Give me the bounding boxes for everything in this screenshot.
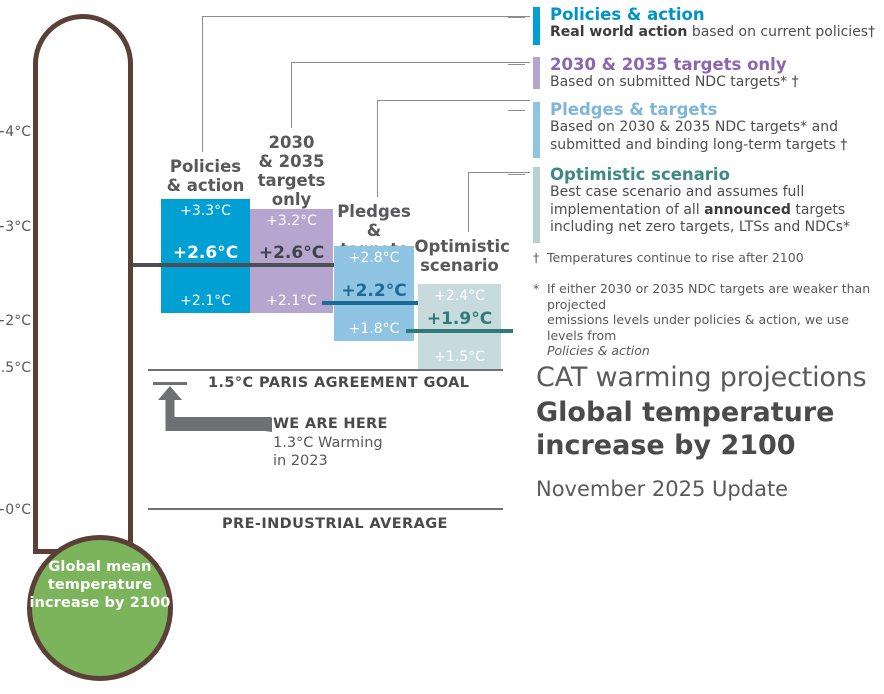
footnote-1: *If either 2030 or 2035 NDC targets are … xyxy=(533,281,884,359)
legend-desc-3: Best case scenario and assumes fullimple… xyxy=(550,184,850,237)
range-low-targets: +2.1°C xyxy=(250,293,333,309)
legend-dash-0 xyxy=(508,17,525,18)
connector-horizontal-1 xyxy=(291,62,530,63)
thermometer-tick xyxy=(42,145,64,148)
connector-vertical-0 xyxy=(202,16,203,152)
thermometer-band-0 xyxy=(38,19,128,133)
range-high-targets: +3.2°C xyxy=(250,213,333,229)
axis-label-4: +4°C xyxy=(0,124,31,140)
connector-vertical-2 xyxy=(377,100,378,197)
legend-body-2: Pledges & targetsBased on 2030 & 2035 ND… xyxy=(550,100,847,154)
thermometer-tick xyxy=(42,98,64,101)
thermometer-tick xyxy=(42,121,64,124)
median-line-targets xyxy=(238,263,345,267)
mercury-gap xyxy=(112,379,119,504)
thermometer-tick xyxy=(42,381,64,384)
axis-label-2: +2°C xyxy=(0,313,31,329)
bulb-label: Global mean temperature increase by 2100 xyxy=(27,558,173,612)
thermometer-tick xyxy=(42,487,64,490)
thermometer-tube xyxy=(38,19,128,549)
chart-title-line2: Global temperature increase by 2100 xyxy=(536,396,834,462)
legend-item-1[interactable]: 2030 & 2035 targets onlyBased on submitt… xyxy=(533,55,799,92)
infographic-root: Global mean temperature increase by 2100… xyxy=(0,0,884,694)
we-are-here-line2: in 2023 xyxy=(273,453,328,469)
legend-body-0: Policies & actionReal world action based… xyxy=(550,5,875,42)
legend-desc-0: Real world action based on current polic… xyxy=(550,24,875,42)
thermometer-tick xyxy=(42,405,64,408)
thermometer-tick xyxy=(42,511,80,514)
legend-title-0: Policies & action xyxy=(550,5,875,24)
thermometer-tick xyxy=(42,287,64,290)
legend-desc-2: Based on 2030 & 2035 NDC targets* andsub… xyxy=(550,119,847,154)
legend-item-0[interactable]: Policies & actionReal world action based… xyxy=(533,5,875,42)
footnote-italic-1: Policies & action xyxy=(547,343,650,358)
range-high-pledges: +2.8°C xyxy=(334,250,414,266)
thermometer-tick xyxy=(42,440,64,443)
footnote-mark-0: † xyxy=(533,250,547,266)
legend-title-3: Optimistic scenario xyxy=(550,165,850,184)
thermometer-tick xyxy=(42,251,64,254)
thermometer-tick xyxy=(42,476,64,479)
thermometer-tick xyxy=(42,216,64,219)
legend-dash-2 xyxy=(508,110,525,111)
column-title-policies: Policies & action xyxy=(161,157,250,195)
thermometer-tick xyxy=(42,263,64,266)
connector-horizontal-0 xyxy=(202,16,530,17)
thermometer-tick xyxy=(42,157,64,160)
legend-swatch-0 xyxy=(533,7,540,45)
median-value-pledges: +2.2°C xyxy=(334,281,414,301)
thermometer-tick xyxy=(42,369,80,372)
thermometer-tick xyxy=(42,334,64,337)
thermometer-tick xyxy=(42,180,80,183)
thermometer-tick xyxy=(42,428,64,431)
thermometer-tick xyxy=(42,192,64,195)
thermometer-tick xyxy=(42,357,64,360)
legend-title-1: 2030 & 2035 targets only xyxy=(550,55,799,74)
we-are-here-subtitle: 1.3°C Warmingin 2023 xyxy=(273,434,383,470)
axis-label-3: +3°C xyxy=(0,219,31,235)
connector-horizontal-2 xyxy=(377,100,530,101)
legend-dash-1 xyxy=(508,64,525,65)
thermometer-tick xyxy=(42,298,64,301)
legend-title-2: Pledges & targets xyxy=(550,100,847,119)
legend-body-3: Optimistic scenarioBest case scenario an… xyxy=(550,165,850,237)
thermometer-tick xyxy=(42,275,80,278)
median-value-targets: +2.6°C xyxy=(250,243,333,263)
thermometer-tick xyxy=(42,168,64,171)
chart-title-line1: CAT warming projections xyxy=(536,362,867,393)
thermometer-tick xyxy=(42,133,80,136)
footnote-text-1: If either 2030 or 2035 NDC targets are w… xyxy=(547,281,884,359)
thermometer-tick xyxy=(42,86,80,89)
chart-subtitle: November 2025 Update xyxy=(536,477,788,501)
range-high-policies: +3.3°C xyxy=(161,203,250,219)
legend-item-2[interactable]: Pledges & targetsBased on 2030 & 2035 ND… xyxy=(533,100,847,154)
footnote-text-0: Temperatures continue to rise after 2100 xyxy=(547,250,804,266)
paris-goal-line xyxy=(148,369,503,371)
connector-vertical-1 xyxy=(291,62,292,128)
thermometer-tick xyxy=(42,239,64,242)
range-low-policies: +2.1°C xyxy=(161,293,250,309)
range-high-optimistic: +2.4°C xyxy=(418,288,501,304)
thermometer-tick xyxy=(42,452,64,455)
thermometer-tick xyxy=(42,346,64,349)
range-low-optimistic: +1.5°C xyxy=(418,349,501,365)
connector-vertical-3 xyxy=(468,172,469,232)
thermometer-tick xyxy=(42,310,64,313)
legend-swatch-1 xyxy=(533,57,540,89)
legend-body-1: 2030 & 2035 targets onlyBased on submitt… xyxy=(550,55,799,92)
legend-swatch-3 xyxy=(533,167,540,243)
median-value-optimistic: +1.9°C xyxy=(418,309,501,329)
column-title-targets: 2030 & 2035 targets only xyxy=(250,133,333,209)
axis-label-1.5: +1.5°C xyxy=(0,360,31,376)
preindustrial-label: PRE-INDUSTRIAL AVERAGE xyxy=(222,516,448,532)
median-value-policies: +2.6°C xyxy=(161,243,250,263)
we-are-here-tick xyxy=(153,382,187,385)
legend-dash-3 xyxy=(508,174,525,175)
connector-horizontal-3 xyxy=(468,172,530,173)
footnote-mark-1: * xyxy=(533,281,547,297)
legend-desc-1: Based on submitted NDC targets* † xyxy=(550,74,799,92)
we-are-here-arrow-icon xyxy=(152,386,272,432)
legend-swatch-2 xyxy=(533,102,540,158)
preindustrial-line xyxy=(148,508,503,510)
thermometer-tick xyxy=(42,499,64,502)
legend-item-3[interactable]: Optimistic scenarioBest case scenario an… xyxy=(533,165,850,237)
column-title-optimistic: Optimistic scenario xyxy=(415,237,505,275)
axis-label-0: +0°C xyxy=(0,502,31,518)
we-are-here-line1: 1.3°C Warming xyxy=(273,435,383,451)
thermometer-tick xyxy=(42,417,80,420)
thermometer-tick xyxy=(42,393,64,396)
thermometer-tick xyxy=(42,464,80,467)
median-line-pledges xyxy=(322,301,426,305)
we-are-here-title: WE ARE HERE xyxy=(273,416,388,432)
median-line-optimistic xyxy=(406,329,513,333)
range-low-pledges: +1.8°C xyxy=(334,321,414,337)
thermometer-tick xyxy=(42,109,64,112)
thermometer-tick xyxy=(42,228,80,231)
footnote-0: †Temperatures continue to rise after 210… xyxy=(533,250,804,266)
thermometer-tick xyxy=(42,322,80,325)
thermometer-tick xyxy=(42,204,64,207)
